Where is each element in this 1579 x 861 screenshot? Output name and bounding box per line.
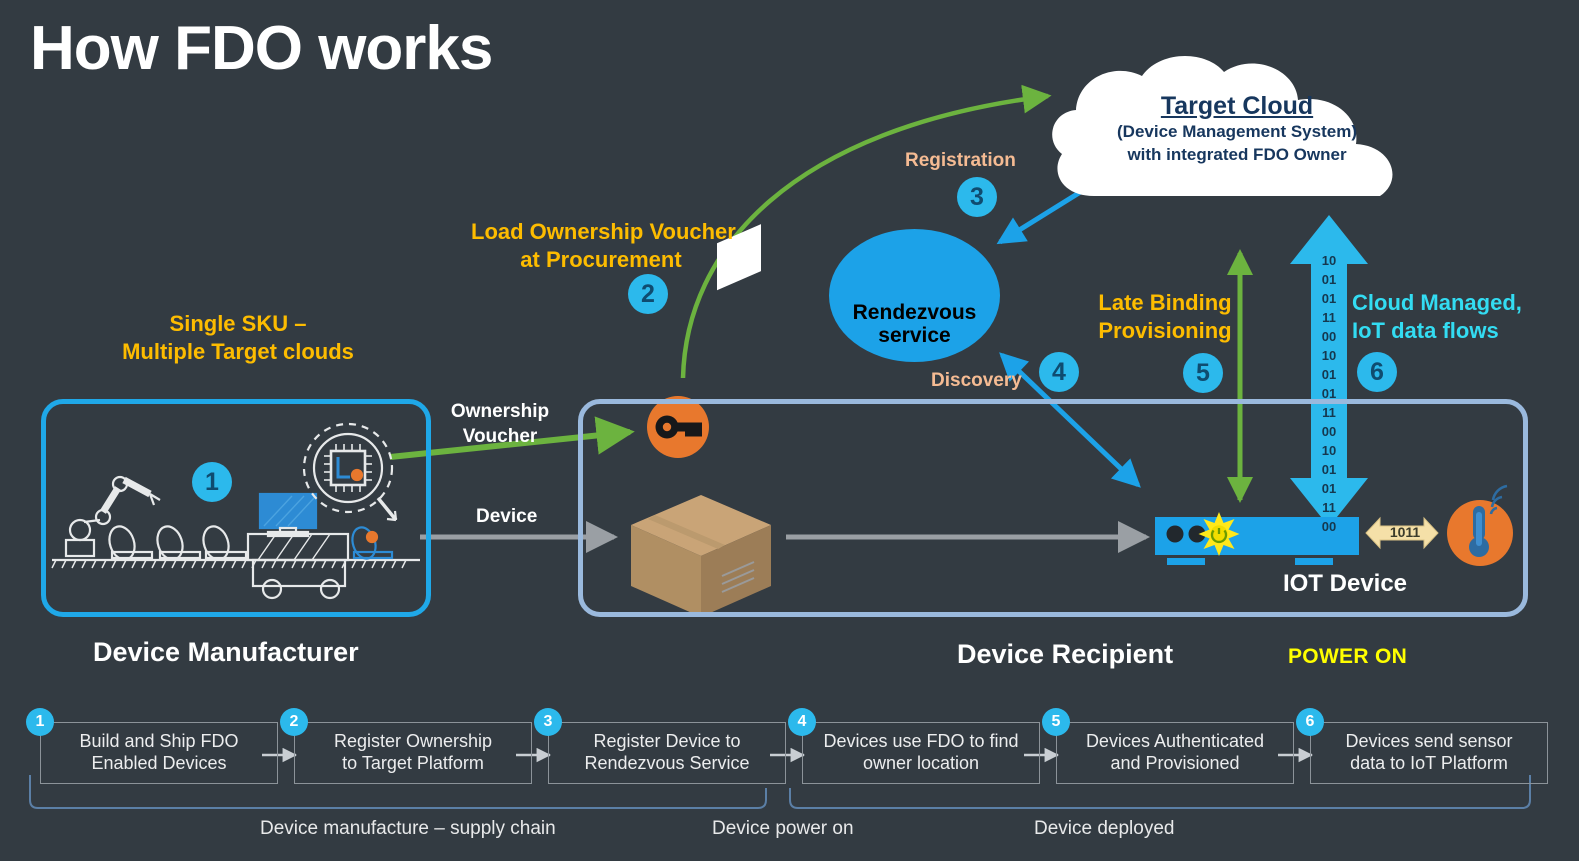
rendezvous-service-node: Rendezvous service: [829, 229, 1000, 362]
binary-row: 10: [1322, 442, 1336, 461]
timeline-phase-label: Device deployed: [1034, 818, 1174, 840]
binary-row: 00: [1322, 518, 1336, 537]
timeline-step-badge-4[interactable]: 4: [788, 708, 816, 736]
timeline-phase-label: Device power on: [712, 818, 854, 840]
process-timeline: Build and Ship FDOEnabled Devices1Regist…: [22, 706, 1558, 846]
ownership-voucher-line1: Ownership: [450, 400, 550, 425]
cloud-managed-line2: IoT data flows: [1352, 317, 1532, 345]
binary-row: 11: [1322, 309, 1336, 328]
timeline-step-label: Devices send sensordata to IoT Platform: [1345, 731, 1512, 775]
target-cloud-title: Target Cloud: [1078, 92, 1396, 121]
device-manufacturer-caption: Device Manufacturer: [93, 637, 359, 668]
timeline-step-6[interactable]: Devices send sensordata to IoT Platform: [1310, 722, 1548, 784]
device-recipient-caption: Device Recipient: [957, 639, 1173, 670]
discovery-label: Discovery: [931, 370, 1022, 392]
rendezvous-label-line2: service: [878, 324, 950, 348]
binary-row: 11: [1322, 404, 1336, 423]
iot-device-caption: IOT Device: [1270, 570, 1420, 598]
timeline-step-5[interactable]: Devices Authenticatedand Provisioned: [1056, 722, 1294, 784]
sensor-data-arrow-label: 1011: [1382, 524, 1428, 540]
timeline-step-label: Register Device toRendezvous Service: [584, 731, 749, 775]
step-badge-1[interactable]: 1: [192, 462, 232, 502]
timeline-step-label: Devices Authenticatedand Provisioned: [1086, 731, 1264, 775]
power-on-label: POWER ON: [1288, 645, 1407, 669]
single-sku-callout: Single SKU – Multiple Target clouds: [90, 310, 386, 366]
timeline-step-badge-3[interactable]: 3: [534, 708, 562, 736]
binary-row: 01: [1322, 385, 1336, 404]
binary-row: 01: [1322, 480, 1336, 499]
binary-row: 01: [1322, 271, 1336, 290]
timeline-step-3[interactable]: Register Device toRendezvous Service: [548, 722, 786, 784]
timeline-step-label: Register Ownershipto Target Platform: [334, 731, 492, 775]
binary-row: 01: [1322, 290, 1336, 309]
binary-row: 00: [1322, 328, 1336, 347]
diagram-canvas: How FDO works: [0, 0, 1579, 861]
timeline-step-line1: Register Device to: [584, 731, 749, 753]
timeline-phase-label: Device manufacture – supply chain: [260, 818, 556, 840]
cloud-managed-line1: Cloud Managed,: [1352, 289, 1532, 317]
target-cloud-text: Target Cloud (Device Management System) …: [1078, 92, 1396, 167]
target-cloud-subtitle-1: (Device Management System): [1078, 121, 1396, 144]
timeline-step-1[interactable]: Build and Ship FDOEnabled Devices: [40, 722, 278, 784]
load-voucher-line2: at Procurement: [471, 246, 731, 274]
timeline-step-label: Devices use FDO to findowner location: [823, 731, 1018, 775]
binary-row: 10: [1322, 347, 1336, 366]
binary-row: 10: [1322, 252, 1336, 271]
timeline-step-badge-1[interactable]: 1: [26, 708, 54, 736]
binary-data-stream: 100101110010010111001001011100: [1311, 252, 1347, 537]
step-badge-4[interactable]: 4: [1039, 352, 1079, 392]
timeline-step-line1: Devices Authenticated: [1086, 731, 1264, 753]
late-binding-line2: Provisioning: [1096, 317, 1234, 345]
step-badge-6[interactable]: 6: [1357, 352, 1397, 392]
timeline-step-line2: and Provisioned: [1086, 753, 1264, 775]
single-sku-line2: Multiple Target clouds: [90, 338, 386, 366]
timeline-step-line1: Devices send sensor: [1345, 731, 1512, 753]
device-manufacturer-panel: [41, 399, 431, 617]
late-binding-line1: Late Binding: [1096, 289, 1234, 317]
rendezvous-label-line1: Rendezvous: [853, 301, 977, 325]
timeline-step-4[interactable]: Devices use FDO to findowner location: [802, 722, 1040, 784]
timeline-step-2[interactable]: Register Ownershipto Target Platform: [294, 722, 532, 784]
timeline-step-badge-2[interactable]: 2: [280, 708, 308, 736]
step-badge-3[interactable]: 3: [957, 177, 997, 217]
load-ownership-voucher-callout: Load Ownership Voucher at Procurement: [471, 218, 731, 274]
timeline-step-line2: Enabled Devices: [79, 753, 238, 775]
timeline-step-line2: to Target Platform: [334, 753, 492, 775]
binary-row: 01: [1322, 366, 1336, 385]
load-voucher-line1: Load Ownership Voucher: [471, 218, 731, 246]
single-sku-line1: Single SKU –: [90, 310, 386, 338]
timeline-step-line1: Register Ownership: [334, 731, 492, 753]
timeline-step-line2: owner location: [823, 753, 1018, 775]
step-badge-2[interactable]: 2: [628, 274, 668, 314]
timeline-step-line1: Devices use FDO to find: [823, 731, 1018, 753]
step-badge-5[interactable]: 5: [1183, 353, 1223, 393]
binary-row: 11: [1322, 499, 1336, 518]
device-flow-label: Device: [476, 505, 536, 530]
target-cloud-subtitle-2: with integrated FDO Owner: [1078, 144, 1396, 167]
ownership-voucher-line2: Voucher: [450, 425, 550, 450]
cloud-managed-callout: Cloud Managed, IoT data flows: [1352, 289, 1532, 345]
registration-label: Registration: [905, 150, 1016, 172]
late-binding-provisioning-callout: Late Binding Provisioning: [1096, 289, 1234, 345]
timeline-step-badge-6[interactable]: 6: [1296, 708, 1324, 736]
timeline-step-line2: Rendezvous Service: [584, 753, 749, 775]
timeline-step-label: Build and Ship FDOEnabled Devices: [79, 731, 238, 775]
timeline-step-line1: Build and Ship FDO: [79, 731, 238, 753]
binary-row: 00: [1322, 423, 1336, 442]
binary-row: 01: [1322, 461, 1336, 480]
ownership-voucher-label: Ownership Voucher: [450, 400, 550, 449]
timeline-step-line2: data to IoT Platform: [1345, 753, 1512, 775]
timeline-step-badge-5[interactable]: 5: [1042, 708, 1070, 736]
